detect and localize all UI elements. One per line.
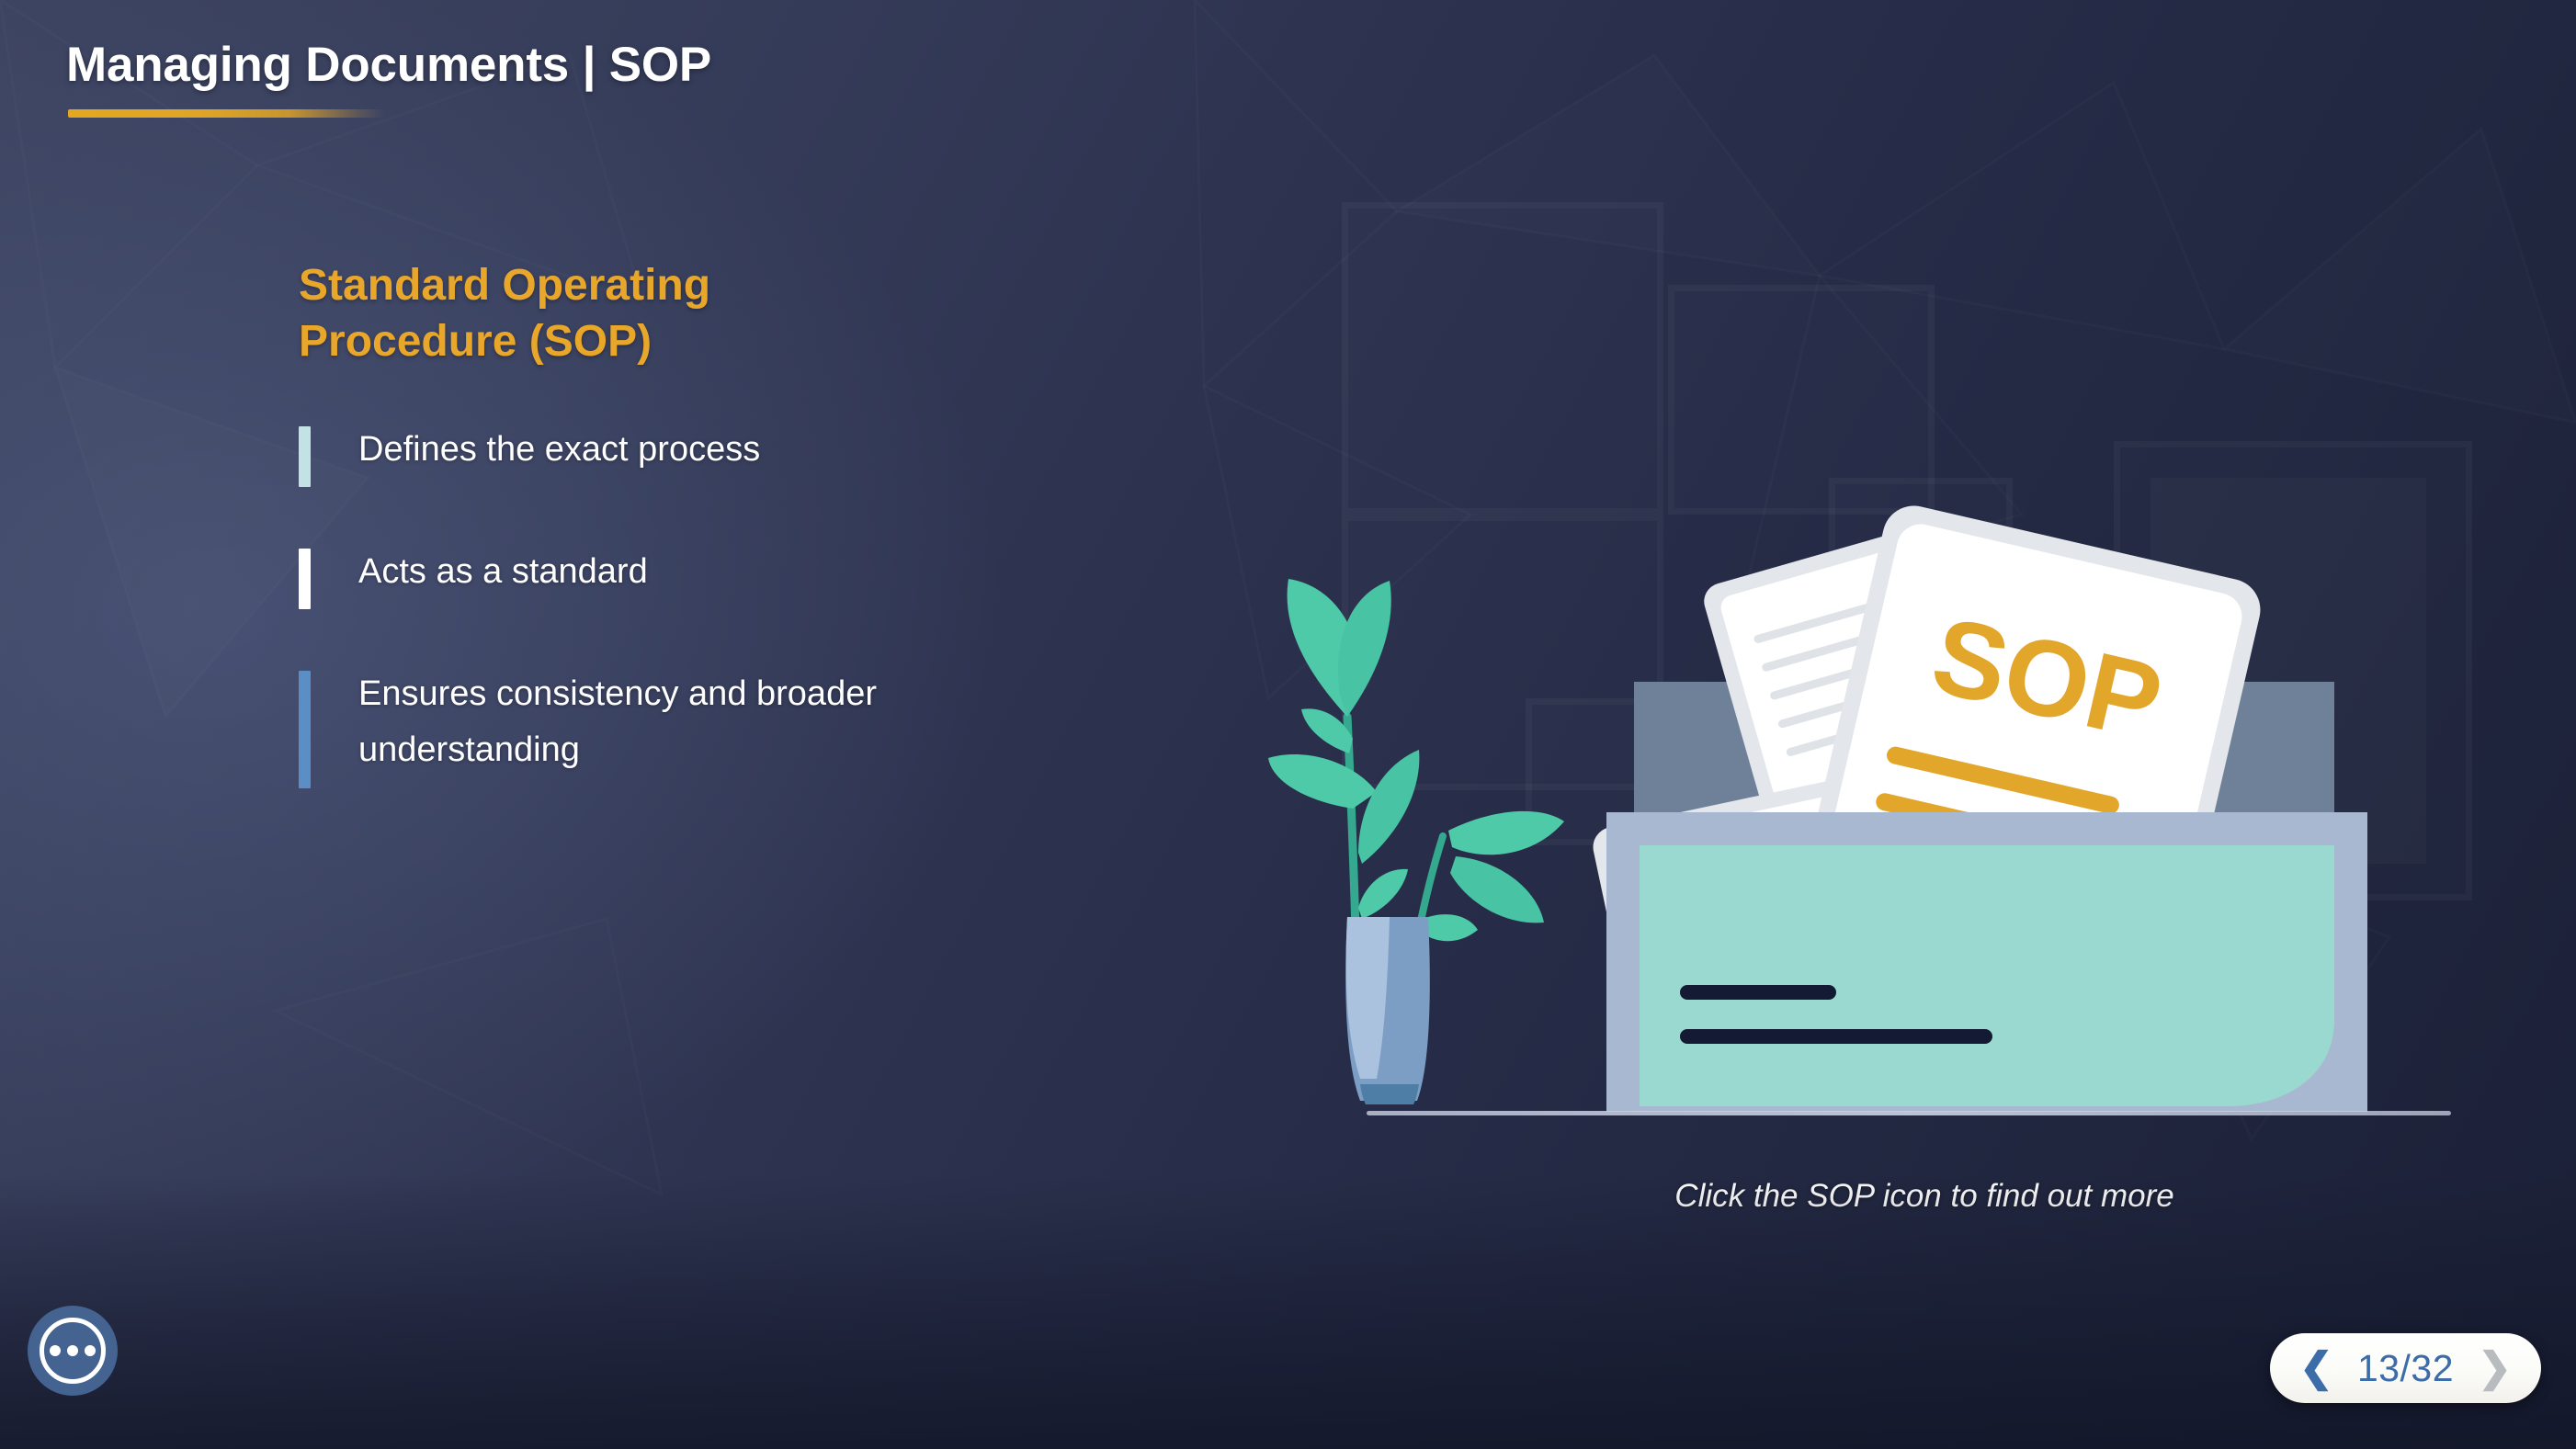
ellipsis-dot [50, 1345, 61, 1356]
illustration-caption: Click the SOP icon to find out more [1649, 1178, 2200, 1215]
bullet-accent-bar [299, 426, 311, 487]
list-item: Acts as a standard [299, 544, 1273, 609]
chevron-right-icon[interactable]: ❯ [2465, 1348, 2525, 1388]
list-item-label: Ensures consistency and broader understa… [358, 666, 1002, 779]
list-item: Defines the exact process [299, 422, 1273, 487]
more-options-button[interactable] [28, 1306, 118, 1396]
slide-header: Managing Documents | SOP [66, 37, 711, 118]
bullet-accent-bar [299, 671, 311, 788]
ellipsis-icon [40, 1318, 106, 1384]
list-item-label: Defines the exact process [358, 422, 760, 479]
bullet-accent-bar [299, 549, 311, 609]
slide-navigation: ❮ 13/32 ❯ [2270, 1333, 2541, 1403]
list-item: Ensures consistency and broader understa… [299, 666, 1273, 788]
chevron-left-icon[interactable]: ❮ [2287, 1348, 2346, 1388]
sop-illustration[interactable]: SOP [1268, 441, 2536, 1139]
tray-front-panel [1640, 845, 2334, 1106]
section-heading: Standard Operating Procedure (SOP) [299, 257, 887, 370]
ellipsis-dot [67, 1345, 78, 1356]
content-column: Standard Operating Procedure (SOP) Defin… [299, 257, 1273, 788]
page-counter: 13/32 [2348, 1347, 2463, 1390]
bottom-gradient-overlay [0, 1173, 2576, 1449]
shelf-line [1367, 1111, 2451, 1115]
bullet-list: Defines the exact process Acts as a stan… [299, 422, 1273, 788]
plant-illustration [1268, 579, 1564, 1104]
slide-canvas: Managing Documents | SOP Standard Operat… [0, 0, 2576, 1449]
ellipsis-dot [85, 1345, 96, 1356]
page-title: Managing Documents | SOP [66, 37, 711, 93]
title-underline-rule [68, 109, 385, 118]
list-item-label: Acts as a standard [358, 544, 648, 601]
